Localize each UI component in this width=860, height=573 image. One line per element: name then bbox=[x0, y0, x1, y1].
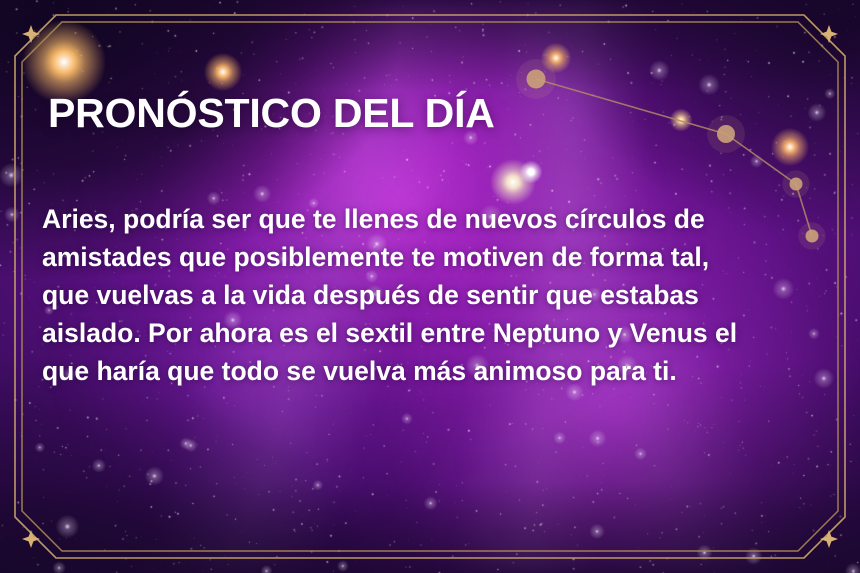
page-title: PRONÓSTICO DEL DÍA bbox=[48, 92, 495, 135]
horoscope-line: aislado. Por ahora es el sextil entre Ne… bbox=[42, 314, 802, 352]
horoscope-body-text: Aries, podría ser que te llenes de nuevo… bbox=[42, 200, 802, 390]
constellation-star bbox=[527, 70, 546, 89]
constellation-star bbox=[790, 178, 803, 191]
horoscope-line: Aries, podría ser que te llenes de nuevo… bbox=[42, 200, 802, 238]
constellation-star bbox=[806, 230, 819, 243]
constellation-star bbox=[717, 125, 735, 143]
horoscope-line: amistades que posiblemente te motiven de… bbox=[42, 238, 802, 276]
constellation-line bbox=[536, 79, 726, 134]
horoscope-line: que vuelvas a la vida después de sentir … bbox=[42, 276, 802, 314]
horoscope-line: que haría que todo se vuelva más animoso… bbox=[42, 352, 802, 390]
horoscope-card: PRONÓSTICO DEL DÍA Aries, podría ser que… bbox=[0, 0, 860, 573]
